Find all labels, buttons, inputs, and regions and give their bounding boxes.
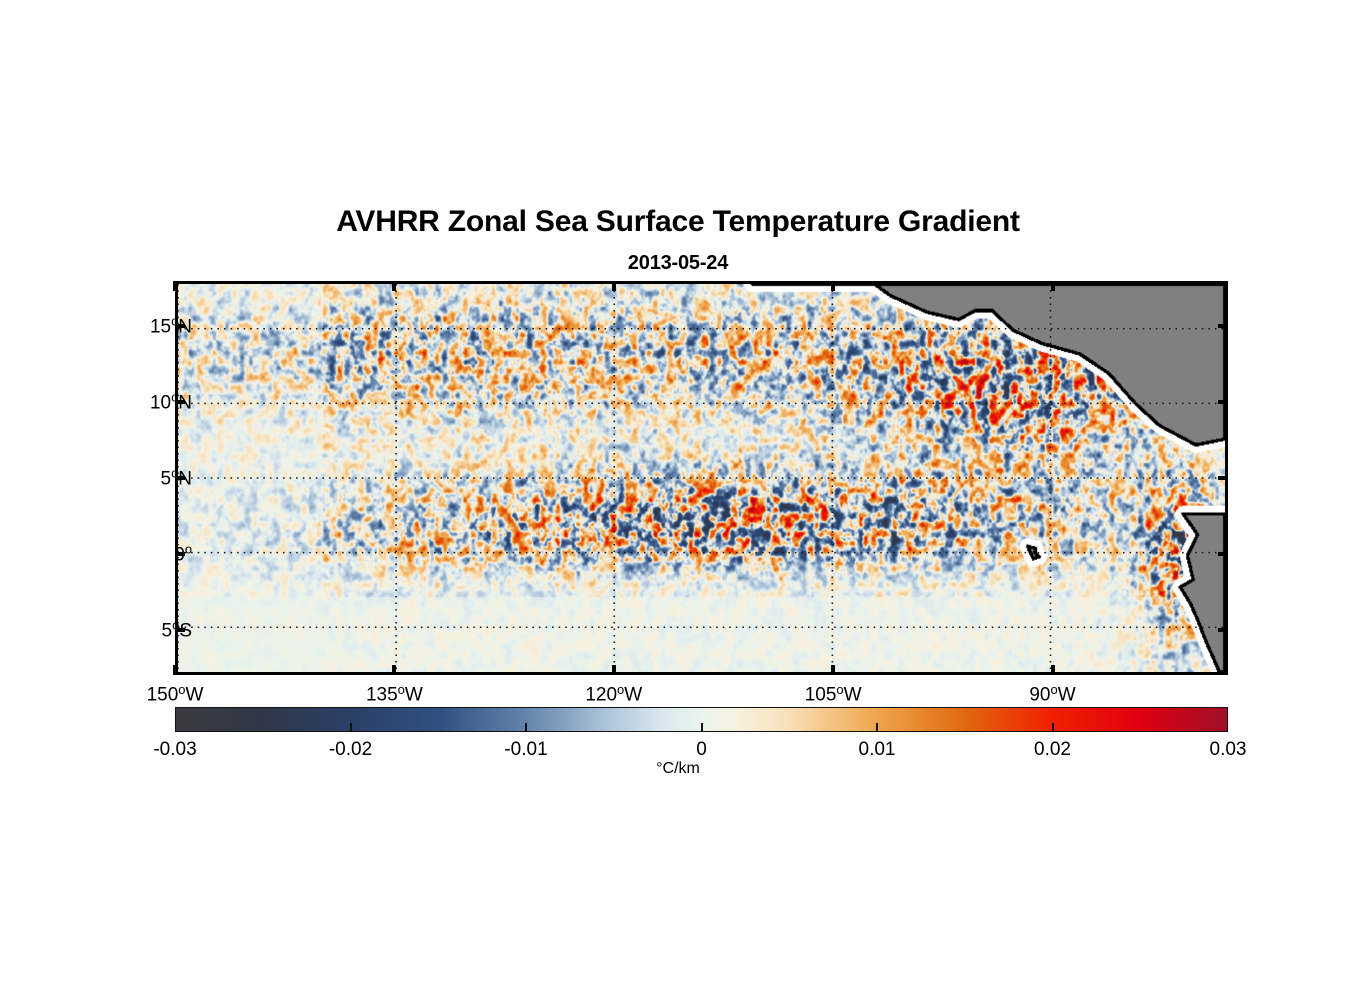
- xtick-mark: [612, 281, 616, 291]
- colorbar-label-2: -0.01: [504, 739, 547, 761]
- xtick-mark: [831, 665, 835, 675]
- xtick-mark: [392, 281, 396, 291]
- xtick-mark: [392, 665, 396, 675]
- xtick-label-0: 150oW: [147, 682, 204, 707]
- xtick-mark: [173, 281, 177, 291]
- ytick-mark: [1218, 324, 1228, 328]
- xtick-label-1: 135oW: [366, 682, 423, 707]
- colorbar-tick-mark: [701, 723, 703, 732]
- colorbar-label-0: -0.03: [153, 739, 196, 761]
- figure-subtitle-date: 2013-05-24: [0, 252, 1356, 275]
- figure-root: AVHRR Zonal Sea Surface Temperature Grad…: [0, 0, 1356, 1000]
- colorbar-unit-label: °C/km: [0, 760, 1356, 778]
- page-title: AVHRR Zonal Sea Surface Temperature Grad…: [0, 205, 1356, 239]
- colorbar-tick-mark: [525, 723, 527, 732]
- xtick-label-3: 105oW: [805, 682, 862, 707]
- ytick-mark: [1218, 400, 1228, 404]
- xtick-mark: [1051, 665, 1055, 675]
- ytick-label-0: 15oN: [150, 314, 192, 339]
- colorbar-label-4: 0.01: [859, 739, 896, 761]
- xtick-mark: [173, 665, 177, 675]
- colorbar-label-5: 0.02: [1034, 739, 1071, 761]
- sst-gradient-heatmap: [178, 284, 1225, 672]
- map-axes[interactable]: [175, 281, 1228, 675]
- xtick-label-4: 90oW: [1029, 682, 1075, 707]
- colorbar-label-6: 0.03: [1210, 739, 1247, 761]
- colorbar-label-1: -0.02: [329, 739, 372, 761]
- ytick-mark: [1218, 476, 1228, 480]
- ytick-mark: [1218, 552, 1228, 556]
- xtick-mark: [831, 281, 835, 291]
- xtick-label-2: 120oW: [585, 682, 642, 707]
- ytick-label-2: 5oN: [161, 466, 193, 491]
- colorbar-label-3: 0: [696, 739, 707, 761]
- ytick-mark: [1218, 628, 1228, 632]
- colorbar-tick-mark: [1052, 723, 1054, 732]
- xtick-mark: [1051, 281, 1055, 291]
- ytick-label-4: 5oS: [162, 617, 192, 642]
- ytick-label-1: 10oN: [150, 390, 192, 415]
- xtick-mark: [612, 665, 616, 675]
- colorbar-tick-mark: [350, 723, 352, 732]
- ytick-label-3: 0o: [174, 541, 192, 566]
- colorbar-tick-mark: [876, 723, 878, 732]
